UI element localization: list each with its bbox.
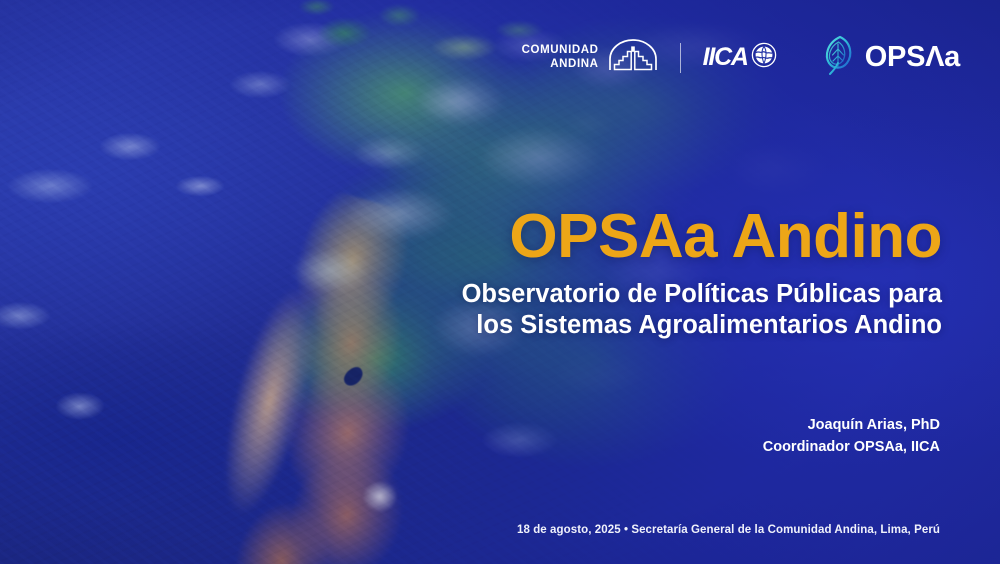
footer-event-info: 18 de agosto, 2025 • Secretaría General …	[517, 524, 940, 536]
slide-content: COMUNIDAD ANDINA IICA	[0, 0, 1000, 564]
iica-wordmark: IICA	[703, 43, 748, 72]
title-block: OPSAa Andino Observatorio de Políticas P…	[302, 206, 942, 341]
opsaa-wordmark: OPSΛa	[865, 41, 960, 74]
globe-icon	[751, 42, 777, 73]
author-block: Joaquín Arias, PhD Coordinador OPSAa, II…	[763, 414, 940, 458]
andean-arch-icon	[608, 38, 658, 77]
author-role: Coordinador OPSAa, IICA	[763, 436, 940, 458]
subtitle-line-1: Observatorio de Políticas Públicas para	[462, 280, 942, 308]
leaf-icon	[822, 34, 856, 81]
comunidad-andina-wordmark: COMUNIDAD ANDINA	[522, 44, 599, 71]
subtitle-line-2: los Sistemas Agroalimentarios Andino	[476, 311, 942, 339]
iica-logo: IICA	[703, 42, 777, 73]
page-title: OPSAa Andino	[302, 206, 942, 268]
page-subtitle: Observatorio de Políticas Públicas para …	[302, 279, 942, 341]
author-name: Joaquín Arias, PhD	[763, 414, 940, 436]
logo-divider-1	[680, 43, 681, 73]
comunidad-andina-logo: COMUNIDAD ANDINA	[522, 38, 658, 77]
opsaa-logo: OPSΛa	[822, 34, 960, 81]
logo-bar: COMUNIDAD ANDINA IICA	[522, 34, 960, 81]
presentation-title-slide: COMUNIDAD ANDINA IICA	[0, 0, 1000, 564]
